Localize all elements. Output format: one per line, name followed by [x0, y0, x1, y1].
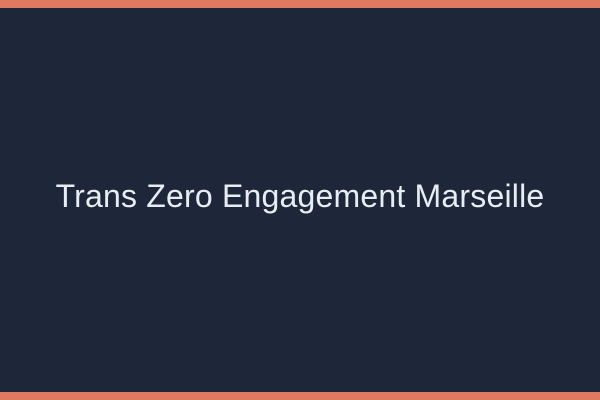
accent-bar-bottom [0, 392, 600, 400]
card-body: Trans Zero Engagement Marseille [0, 8, 600, 392]
page-title: Trans Zero Engagement Marseille [56, 178, 545, 216]
placeholder-card: Trans Zero Engagement Marseille [0, 0, 600, 400]
accent-bar-top [0, 0, 600, 8]
